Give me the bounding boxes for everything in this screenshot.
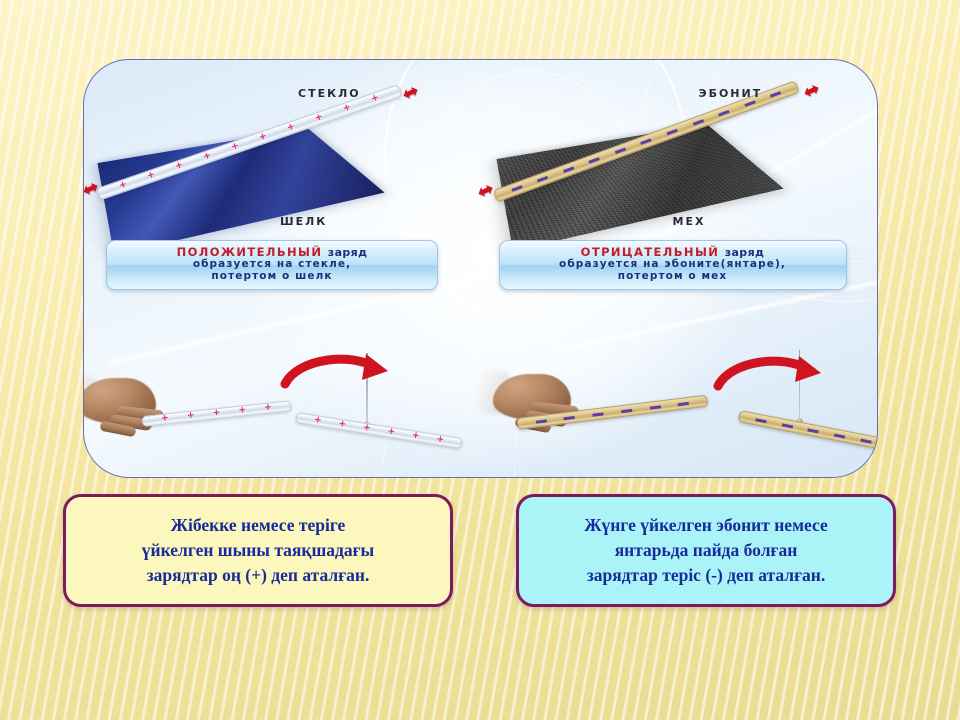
- fur-cloth-label: МЕХ: [673, 215, 706, 228]
- banner-line-3: потертом о мех: [506, 271, 840, 283]
- charge-symbol: +: [387, 428, 396, 438]
- charge-dash: [666, 129, 677, 136]
- charge-dash: [649, 405, 660, 409]
- charge-symbol: +: [202, 151, 212, 162]
- left-experiment-column: + + + + + + + + + + ⬌ ⬌ СТЕКЛО ШЕЛК: [84, 60, 481, 477]
- charge-symbol: +: [436, 435, 445, 445]
- pivoted-ebonite-rod: [737, 410, 878, 451]
- callout-right-line-2: янтарьда пайда болған: [584, 538, 827, 563]
- positive-charge-markers: + + + + + +: [296, 413, 461, 448]
- callout-left-line-3: зарядтар оң (+) деп аталған.: [142, 563, 374, 588]
- charge-symbol: +: [338, 420, 347, 430]
- callout-right-line-3: зарядтар теріс (-) деп аталған.: [584, 563, 827, 588]
- charge-dash: [770, 91, 781, 98]
- glass-rod-label: СТЕКЛО: [298, 87, 361, 100]
- charge-dash: [744, 100, 755, 107]
- charge-dash: [781, 423, 792, 428]
- rotation-arrow-icon: [713, 352, 823, 392]
- charge-dash: [535, 419, 546, 423]
- charge-symbol: +: [370, 94, 380, 105]
- charge-symbol: +: [230, 142, 240, 153]
- charge-symbol: +: [118, 180, 128, 191]
- charge-dash: [563, 415, 574, 419]
- callout-right-line-1: Жүнге үйкелген эбонит немесе: [584, 513, 827, 538]
- right-experiment-column: ⬌ ⬌ ЭБОНИТ МЕХ ОТРИЦАТЕЛЬНЫЙ заряд образ…: [481, 60, 878, 477]
- slide-canvas: + + + + + + + + + + ⬌ ⬌ СТЕКЛО ШЕЛК: [0, 0, 960, 720]
- banner-lead-strong: ОТРИЦАТЕЛЬНЫЙ: [581, 245, 720, 259]
- banner-lead-plain: заряд: [328, 246, 368, 259]
- charge-dash: [807, 428, 818, 433]
- banner-lead-line: ПОЛОЖИТЕЛЬНЫЙ заряд: [113, 246, 431, 259]
- banner-lead-strong: ПОЛОЖИТЕЛЬНЫЙ: [177, 245, 323, 259]
- callout-positive-charge: Жібекке немесе теріге үйкелген шыны таяқ…: [63, 494, 453, 607]
- charge-dash: [834, 433, 845, 438]
- pivoted-glass-rod: + + + + + +: [295, 412, 463, 449]
- charge-symbol: +: [174, 161, 184, 172]
- charge-symbol: +: [314, 113, 324, 124]
- charge-symbol: +: [161, 414, 169, 424]
- charge-symbol: +: [342, 103, 352, 114]
- charge-symbol: +: [264, 403, 272, 413]
- rub-arrow-left-icon: ⬌: [83, 175, 102, 200]
- charge-dash: [860, 438, 871, 443]
- charge-dash: [592, 412, 603, 416]
- hand-holding-glass-rod: [83, 378, 164, 438]
- banner-line-3: потертом о шелк: [113, 271, 431, 283]
- charge-dash: [677, 401, 688, 405]
- rotation-arrow-icon: [280, 350, 390, 390]
- positive-charge-banner: ПОЛОЖИТЕЛЬНЫЙ заряд образуется на стекле…: [106, 240, 438, 290]
- charge-symbol: +: [146, 171, 156, 182]
- negative-charge-banner: ОТРИЦАТЕЛЬНЫЙ заряд образуется на эбонит…: [499, 240, 847, 290]
- charge-symbol: +: [187, 412, 195, 422]
- ebonite-rod-label: ЭБОНИТ: [699, 87, 763, 100]
- charge-dash: [614, 148, 625, 155]
- charge-symbol: +: [313, 416, 322, 426]
- rub-arrow-right-icon: ⬌: [399, 79, 422, 104]
- charge-symbol: +: [362, 424, 371, 434]
- callout-left-line-1: Жібекке немесе теріге: [142, 513, 374, 538]
- banner-lead-plain: заряд: [725, 246, 765, 259]
- charge-symbol: +: [286, 122, 296, 133]
- charge-symbol: +: [238, 406, 246, 416]
- charge-dash: [692, 119, 703, 126]
- charge-dash: [562, 166, 573, 173]
- rub-arrow-right-icon: ⬌: [799, 77, 822, 102]
- callout-left-line-2: үйкелген шыны таяқшадағы: [142, 538, 374, 563]
- charge-symbol: +: [212, 409, 220, 419]
- negative-charge-markers: [739, 411, 878, 449]
- banner-lead-line: ОТРИЦАТЕЛЬНЫЙ заряд: [506, 246, 840, 259]
- charge-symbol: +: [258, 132, 268, 143]
- charge-symbol: +: [411, 431, 420, 441]
- charge-dash: [640, 138, 651, 145]
- charge-dash: [718, 110, 729, 117]
- callout-negative-charge: Жүнге үйкелген эбонит немесе янтарьда па…: [516, 494, 896, 607]
- charge-dash: [588, 157, 599, 164]
- charge-dash: [511, 185, 522, 192]
- charge-dash: [536, 176, 547, 183]
- charge-dash: [755, 418, 766, 423]
- illustration-panel: + + + + + + + + + + ⬌ ⬌ СТЕКЛО ШЕЛК: [83, 59, 878, 478]
- silk-cloth-label: ШЕЛК: [280, 215, 327, 228]
- charge-dash: [620, 408, 631, 412]
- positive-charge-markers: + + + + +: [143, 401, 291, 425]
